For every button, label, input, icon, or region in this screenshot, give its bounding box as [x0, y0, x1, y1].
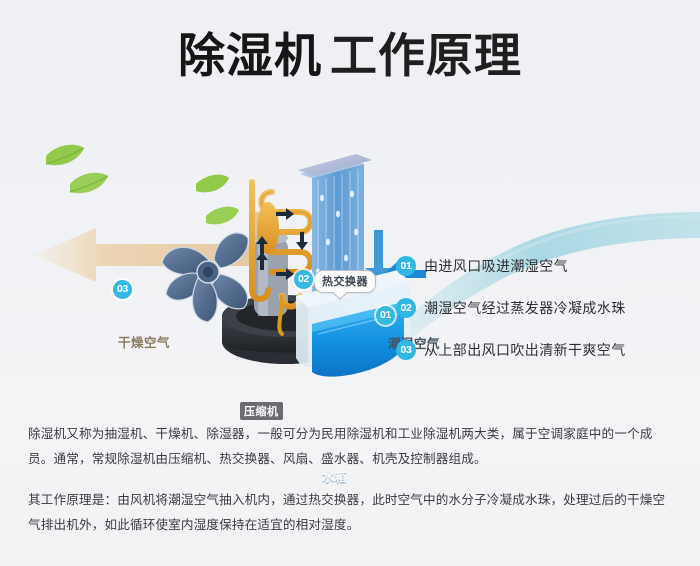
diagram-badge-01: 01 — [376, 306, 395, 325]
legend-badge-01: 01 — [396, 256, 416, 276]
legend-badge-02: 02 — [396, 298, 416, 318]
infographic-page: 除湿机工作原理 — [0, 0, 700, 566]
description-paragraph-2: 其工作原理是：由风机将潮湿空气抽入机内，通过热交换器，此时空气中的水分子冷凝成水… — [28, 488, 676, 538]
title-part-2: 工作原理 — [330, 29, 522, 82]
leaf-icon — [46, 145, 84, 165]
diagram-badge-03: 03 — [113, 280, 132, 299]
description-block: 除湿机又称为抽湿机、干燥机、除湿器，一般可分为民用除湿机和工业除湿机两大类，属于… — [28, 422, 676, 538]
label-compressor: 压缩机 — [240, 402, 283, 420]
legend-list: 01 由进风口吸进潮湿空气 02 潮湿空气经过蒸发器冷凝成水珠 03 从上部出风… — [396, 256, 686, 382]
page-title: 除湿机工作原理 — [0, 26, 700, 86]
title-part-1: 除湿机 — [178, 29, 322, 82]
leaf-icon — [196, 175, 229, 193]
label-dry-air: 干燥空气 — [118, 332, 170, 351]
legend-item: 03 从上部出风口吹出清新干爽空气 — [396, 340, 686, 382]
legend-badge-03: 03 — [396, 340, 416, 360]
diagram-badge-02: 02 — [294, 270, 313, 289]
description-paragraph-1: 除湿机又称为抽湿机、干燥机、除湿器，一般可分为民用除湿机和工业除湿机两大类，属于… — [28, 422, 676, 472]
legend-text-03: 从上部出风口吹出清新干爽空气 — [424, 341, 626, 360]
legend-text-02: 潮湿空气经过蒸发器冷凝成水珠 — [424, 299, 626, 318]
label-heat-exchanger: 热交换器 — [314, 270, 376, 293]
leaf-icon — [206, 207, 239, 225]
leaf-icon — [70, 173, 108, 193]
legend-item: 01 由进风口吸进潮湿空气 — [396, 256, 686, 298]
legend-text-01: 由进风口吸进潮湿空气 — [424, 257, 568, 276]
legend-item: 02 潮湿空气经过蒸发器冷凝成水珠 — [396, 298, 686, 340]
